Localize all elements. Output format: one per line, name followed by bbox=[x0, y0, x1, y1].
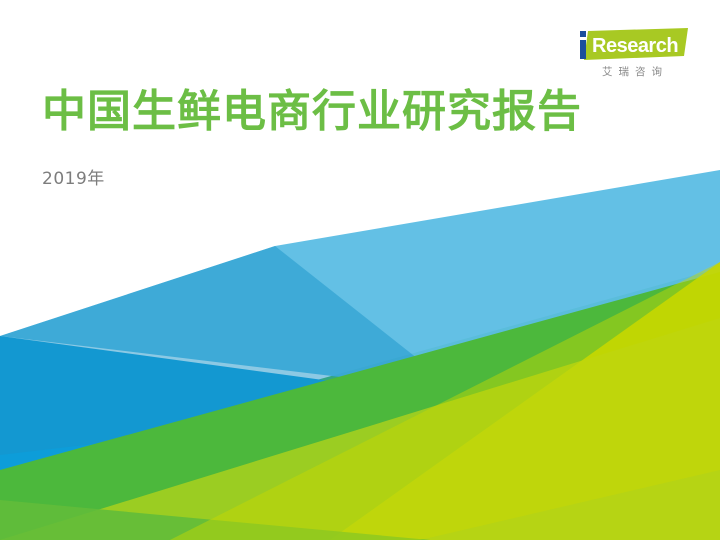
iresearch-wordmark-icon: Research bbox=[572, 28, 690, 62]
page-title: 中国生鲜电商行业研究报告 bbox=[42, 86, 582, 138]
logo-research-text: Research bbox=[592, 35, 678, 57]
report-year: 2019年 bbox=[42, 164, 582, 189]
background-artwork bbox=[0, 0, 720, 540]
report-cover-slide: Research 艾瑞咨询 中国生鲜电商行业研究报告 2019年 bbox=[0, 0, 720, 540]
logo-i-dot bbox=[580, 31, 586, 37]
logo-subtitle: 艾瑞咨询 bbox=[572, 67, 692, 79]
title-block: 中国生鲜电商行业研究报告 2019年 bbox=[42, 86, 582, 189]
iresearch-logo: Research 艾瑞咨询 bbox=[572, 28, 692, 79]
logo-i-stem bbox=[580, 40, 586, 59]
